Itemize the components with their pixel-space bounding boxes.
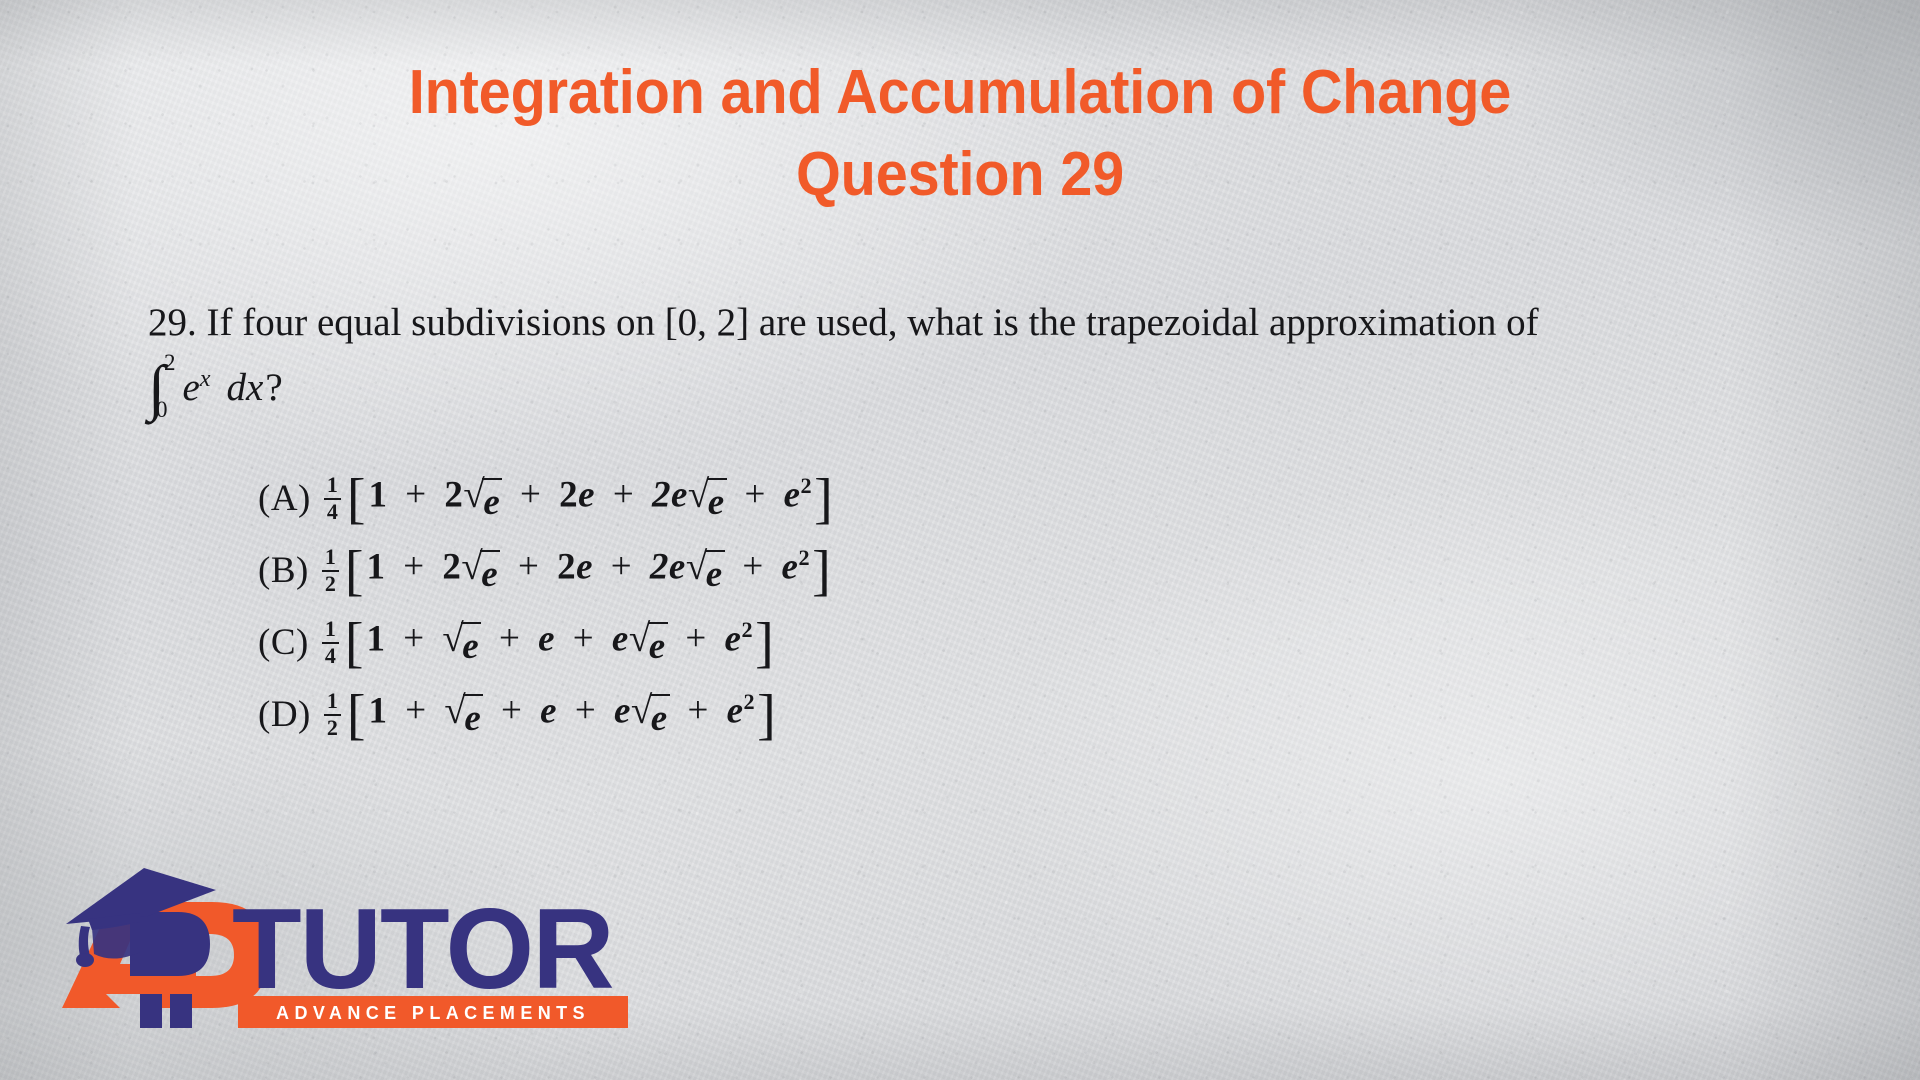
bracket-close-icon: ] [755, 623, 774, 663]
term-3-var: e [578, 474, 595, 515]
term-5-var: e [784, 474, 801, 515]
differential: dx [227, 368, 264, 407]
plus-icon: + [512, 474, 549, 515]
term-5-exponent: 2 [801, 473, 813, 498]
integral-limits: 2 0 [159, 355, 171, 417]
bracket-open-icon: [ [347, 695, 366, 735]
integral-upper-limit: 2 [164, 351, 176, 374]
plus-icon: + [677, 618, 714, 659]
term-2-radical: √e [442, 621, 481, 667]
plus-icon: + [679, 690, 716, 731]
plus-icon: + [603, 546, 640, 587]
logo-foot-right [170, 994, 192, 1028]
term-5-var: e [725, 618, 742, 659]
choice-b-numerator: 1 [323, 546, 338, 569]
term-2-radicand: e [482, 478, 502, 524]
term-1: 1 [369, 474, 388, 515]
term-2-radicand: e [463, 694, 483, 740]
integrand-exponent: x [200, 365, 211, 392]
integral-lower-limit: 0 [156, 398, 168, 421]
choice-d-denominator: 2 [325, 717, 340, 740]
choice-d-numerator: 1 [325, 690, 340, 713]
answer-choice-a[interactable]: (A) 1 4 [ 1 + 2√e + 2e + 2e√e + e2 ] [258, 462, 833, 534]
question-text-line-1: 29. If four equal subdivisions on [0, 2]… [148, 300, 1828, 346]
choice-a-numerator: 1 [325, 474, 340, 497]
question-integral-line: ∫ 2 0 ex dx ? [148, 356, 1828, 418]
term-4-radicand: e [648, 622, 668, 668]
term-3-var: e [576, 546, 593, 587]
question-number: 29. [148, 301, 197, 344]
choice-c-fraction: 1 4 [322, 618, 339, 668]
question-mark: ? [265, 368, 282, 407]
term-3-coef: 2 [557, 546, 576, 587]
term-3-var: e [540, 690, 557, 731]
term-2-coef: 2 [442, 546, 461, 587]
term-3-var: e [538, 618, 555, 659]
choice-label-b: (B) [258, 549, 309, 592]
choice-d-fraction: 1 2 [324, 690, 341, 740]
term-1: 1 [366, 546, 385, 587]
plus-icon: + [395, 618, 432, 659]
title-line-topic: Integration and Accumulation of Change [67, 52, 1853, 134]
plus-icon: + [397, 690, 434, 731]
bracket-close-icon: ] [757, 695, 776, 735]
integrand-base: e [182, 366, 199, 409]
logo-letter-d-bowl [154, 912, 210, 976]
question-body: 29. If four equal subdivisions on [0, 2]… [148, 300, 1828, 418]
answer-choice-list: (A) 1 4 [ 1 + 2√e + 2e + 2e√e + e2 ] (B) [258, 462, 833, 750]
choice-label-c: (C) [258, 621, 309, 664]
choice-d-expression: 1 + √e + e + e√e + e2 [369, 689, 756, 739]
choice-c-numerator: 1 [323, 618, 338, 641]
title-line-question-number: Question 29 [67, 134, 1853, 216]
bracket-open-icon: [ [347, 479, 366, 519]
term-4-radical: √e [629, 621, 668, 667]
choice-label-a: (A) [258, 477, 311, 520]
bracket-close-icon: ] [814, 479, 833, 519]
term-4-coef: e [614, 690, 631, 731]
term-2-radicand: e [480, 550, 500, 596]
plus-icon: + [736, 474, 773, 515]
term-2-radical: √e [461, 549, 500, 595]
term-5-exponent: 2 [798, 545, 810, 570]
plus-icon: + [734, 546, 771, 587]
term-4-coef: 2e [650, 546, 686, 587]
integrand: ex [182, 367, 210, 407]
term-4-coef: 2e [652, 474, 688, 515]
logo-artwork: TUTOR ADVANCE PLACEMENTS [44, 856, 644, 1032]
bracket-open-icon: [ [345, 551, 364, 591]
plus-icon: + [395, 546, 432, 587]
plus-icon: + [605, 474, 642, 515]
plus-icon: + [491, 618, 528, 659]
term-3-coef: 2 [559, 474, 578, 515]
term-4-radicand: e [650, 694, 670, 740]
logo-foot-left [140, 994, 162, 1028]
plus-icon: + [567, 690, 604, 731]
term-5-exponent: 2 [744, 689, 756, 714]
choice-a-expression: 1 + 2√e + 2e + 2e√e + e2 [369, 473, 813, 523]
plus-icon: + [565, 618, 602, 659]
term-5-exponent: 2 [741, 617, 753, 642]
plus-icon: + [493, 690, 530, 731]
slide-canvas: Integration and Accumulation of Change Q… [0, 0, 1920, 1080]
term-2-radical: √e [444, 693, 483, 739]
choice-label-d: (D) [258, 693, 311, 736]
term-1: 1 [366, 618, 385, 659]
term-4-radical: √e [631, 693, 670, 739]
bracket-close-icon: ] [812, 551, 831, 591]
term-5-var: e [727, 690, 744, 731]
term-4-coef: e [612, 618, 629, 659]
answer-choice-b[interactable]: (B) 1 2 [ 1 + 2√e + 2e + 2e√e + e2 ] [258, 534, 833, 606]
plus-icon: + [397, 474, 434, 515]
term-4-radical: √e [686, 549, 725, 595]
term-2-coef: 2 [444, 474, 463, 515]
term-2-radical: √e [463, 477, 502, 523]
answer-choice-d[interactable]: (D) 1 2 [ 1 + √e + e + e√e + e2 ] [258, 678, 833, 750]
term-1: 1 [369, 690, 388, 731]
question-statement: If four equal subdivisions on [0, 2] are… [207, 301, 1539, 344]
choice-b-denominator: 2 [323, 573, 338, 596]
choice-b-expression: 1 + 2√e + 2e + 2e√e + e2 [366, 545, 810, 595]
logo-wordmark: TUTOR [232, 886, 613, 1013]
answer-choice-c[interactable]: (C) 1 4 [ 1 + √e + e + e√e + e2 ] [258, 606, 833, 678]
choice-c-expression: 1 + √e + e + e√e + e2 [366, 617, 753, 667]
term-2-radicand: e [461, 622, 481, 668]
brand-logo[interactable]: TUTOR ADVANCE PLACEMENTS [44, 856, 644, 1032]
bracket-open-icon: [ [345, 623, 364, 663]
plus-icon: + [510, 546, 547, 587]
choice-a-denominator: 4 [325, 501, 340, 524]
logo-tagline: ADVANCE PLACEMENTS [276, 1003, 590, 1023]
choice-a-fraction: 1 4 [324, 474, 341, 524]
term-4-radicand: e [707, 478, 727, 524]
choice-b-fraction: 1 2 [322, 546, 339, 596]
choice-c-denominator: 4 [323, 645, 338, 668]
definite-integral: ∫ 2 0 [148, 356, 170, 418]
term-5-var: e [782, 546, 799, 587]
slide-title: Integration and Accumulation of Change Q… [0, 52, 1920, 216]
term-4-radicand: e [705, 550, 725, 596]
term-4-radical: √e [688, 477, 727, 523]
